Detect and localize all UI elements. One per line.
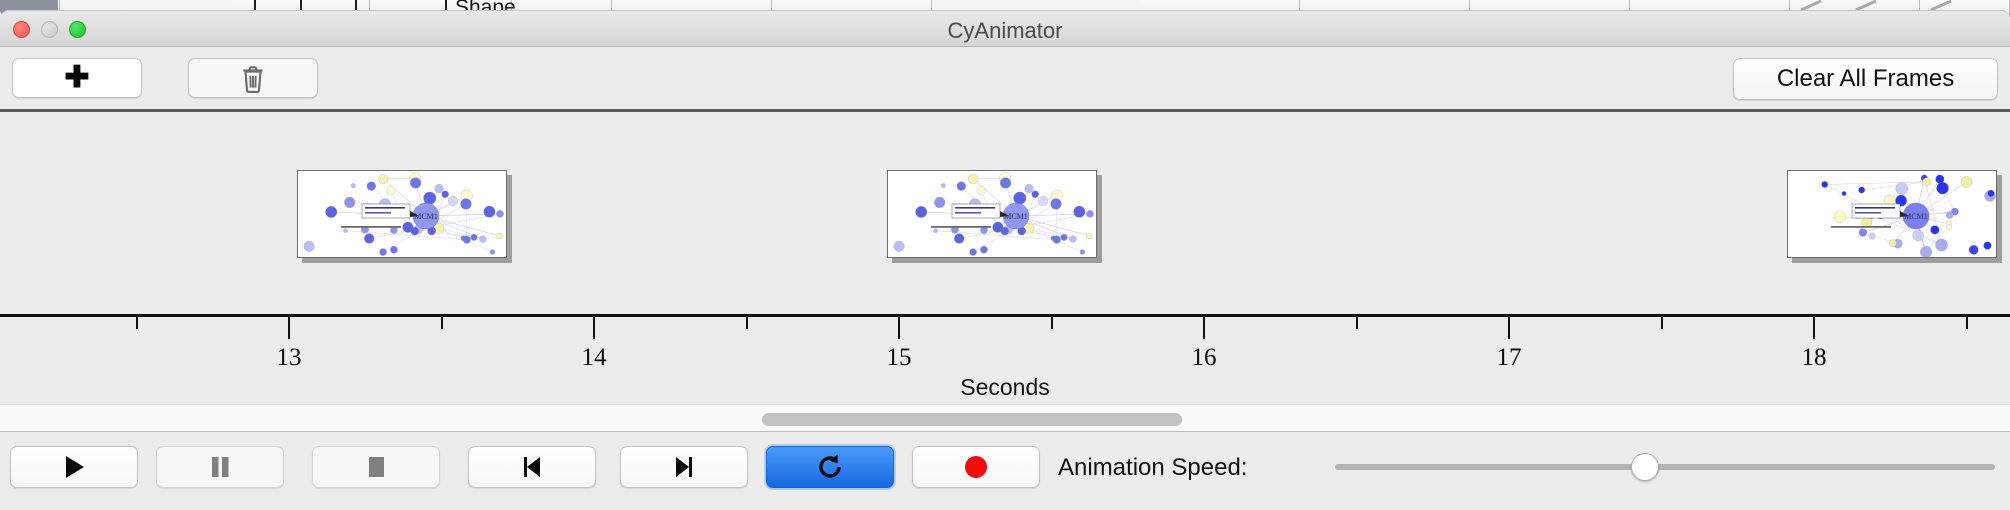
ruler-minor-tick [1661, 317, 1663, 329]
play-icon [61, 453, 87, 481]
ruler-minor-tick [441, 317, 443, 329]
svg-text:MCM1: MCM1 [414, 212, 438, 221]
ruler-minor-tick [136, 317, 138, 329]
ruler-tick-label: 18 [1802, 344, 1827, 372]
ruler-baseline [0, 314, 2010, 317]
transport-bar: Animation Speed: [0, 432, 2010, 504]
slider-track [1335, 464, 1995, 470]
delete-frame-button[interactable] [188, 58, 318, 98]
pause-icon [207, 453, 233, 481]
window-titlebar: CyAnimator [0, 11, 2010, 47]
network-thumbnail: MCM1 [298, 171, 507, 258]
stop-button[interactable] [312, 446, 440, 488]
skip-back-button[interactable] [468, 446, 596, 488]
record-icon [962, 453, 990, 481]
slider-thumb[interactable] [1631, 453, 1659, 481]
frame-thumbnail-1[interactable]: MCM1 [297, 170, 507, 258]
timeline-ruler[interactable]: Seconds 12131415161718 [0, 314, 2010, 404]
record-button[interactable] [912, 446, 1040, 488]
ruler-tick-label: 14 [582, 344, 607, 372]
stop-icon [363, 453, 389, 481]
ruler-major-tick [288, 317, 290, 339]
animation-speed-label: Animation Speed: [1058, 454, 1247, 482]
ruler-tick-label: 17 [1497, 344, 1522, 372]
ruler-major-tick [1508, 317, 1510, 339]
loop-button[interactable] [766, 446, 894, 488]
clear-all-frames-button[interactable]: Clear All Frames [1733, 58, 1998, 100]
ruler-tick-label: 13 [277, 344, 302, 372]
network-thumbnail: MCM1 [1788, 171, 1997, 258]
network-thumbnail: MCM1 [888, 171, 1097, 258]
ruler-minor-tick [1051, 317, 1053, 329]
scrollbar-thumb[interactable] [762, 413, 1182, 426]
window-title: CyAnimator [0, 18, 2010, 44]
ruler-major-tick [1813, 317, 1815, 339]
animation-speed-slider[interactable] [1335, 446, 1995, 488]
frame-thumbnail-2[interactable]: MCM1 [887, 170, 1097, 258]
cyanimator-window: CyAnimator ✚ Clear All Frames MCM1MCM1MC… [0, 10, 2010, 510]
frame-thumbnail-3[interactable]: MCM1 [1787, 170, 1997, 258]
ruler-tick-label: 15 [887, 344, 912, 372]
timeline-scrollbar[interactable] [0, 404, 2010, 432]
svg-text:MCM1: MCM1 [1004, 212, 1028, 221]
plus-icon: ✚ [64, 63, 89, 93]
ruler-minor-tick [1966, 317, 1968, 329]
pause-button[interactable] [156, 446, 284, 488]
loop-icon [815, 452, 845, 482]
skip-forward-icon [671, 453, 697, 481]
frame-toolbar: ✚ Clear All Frames [0, 47, 2010, 109]
ruler-major-tick [593, 317, 595, 339]
trash-icon [240, 63, 266, 93]
ruler-major-tick [898, 317, 900, 339]
ruler-major-tick [1203, 317, 1205, 339]
play-button[interactable] [10, 446, 138, 488]
frame-track: MCM1MCM1MCM1 [0, 112, 2010, 314]
skip-forward-button[interactable] [620, 446, 748, 488]
add-frame-button[interactable]: ✚ [12, 58, 142, 98]
skip-back-icon [519, 453, 545, 481]
ruler-axis-label: Seconds [0, 374, 2010, 401]
ruler-tick-label: 16 [1192, 344, 1217, 372]
ruler-minor-tick [746, 317, 748, 329]
ruler-minor-tick [1356, 317, 1358, 329]
svg-text:MCM1: MCM1 [1904, 212, 1928, 221]
